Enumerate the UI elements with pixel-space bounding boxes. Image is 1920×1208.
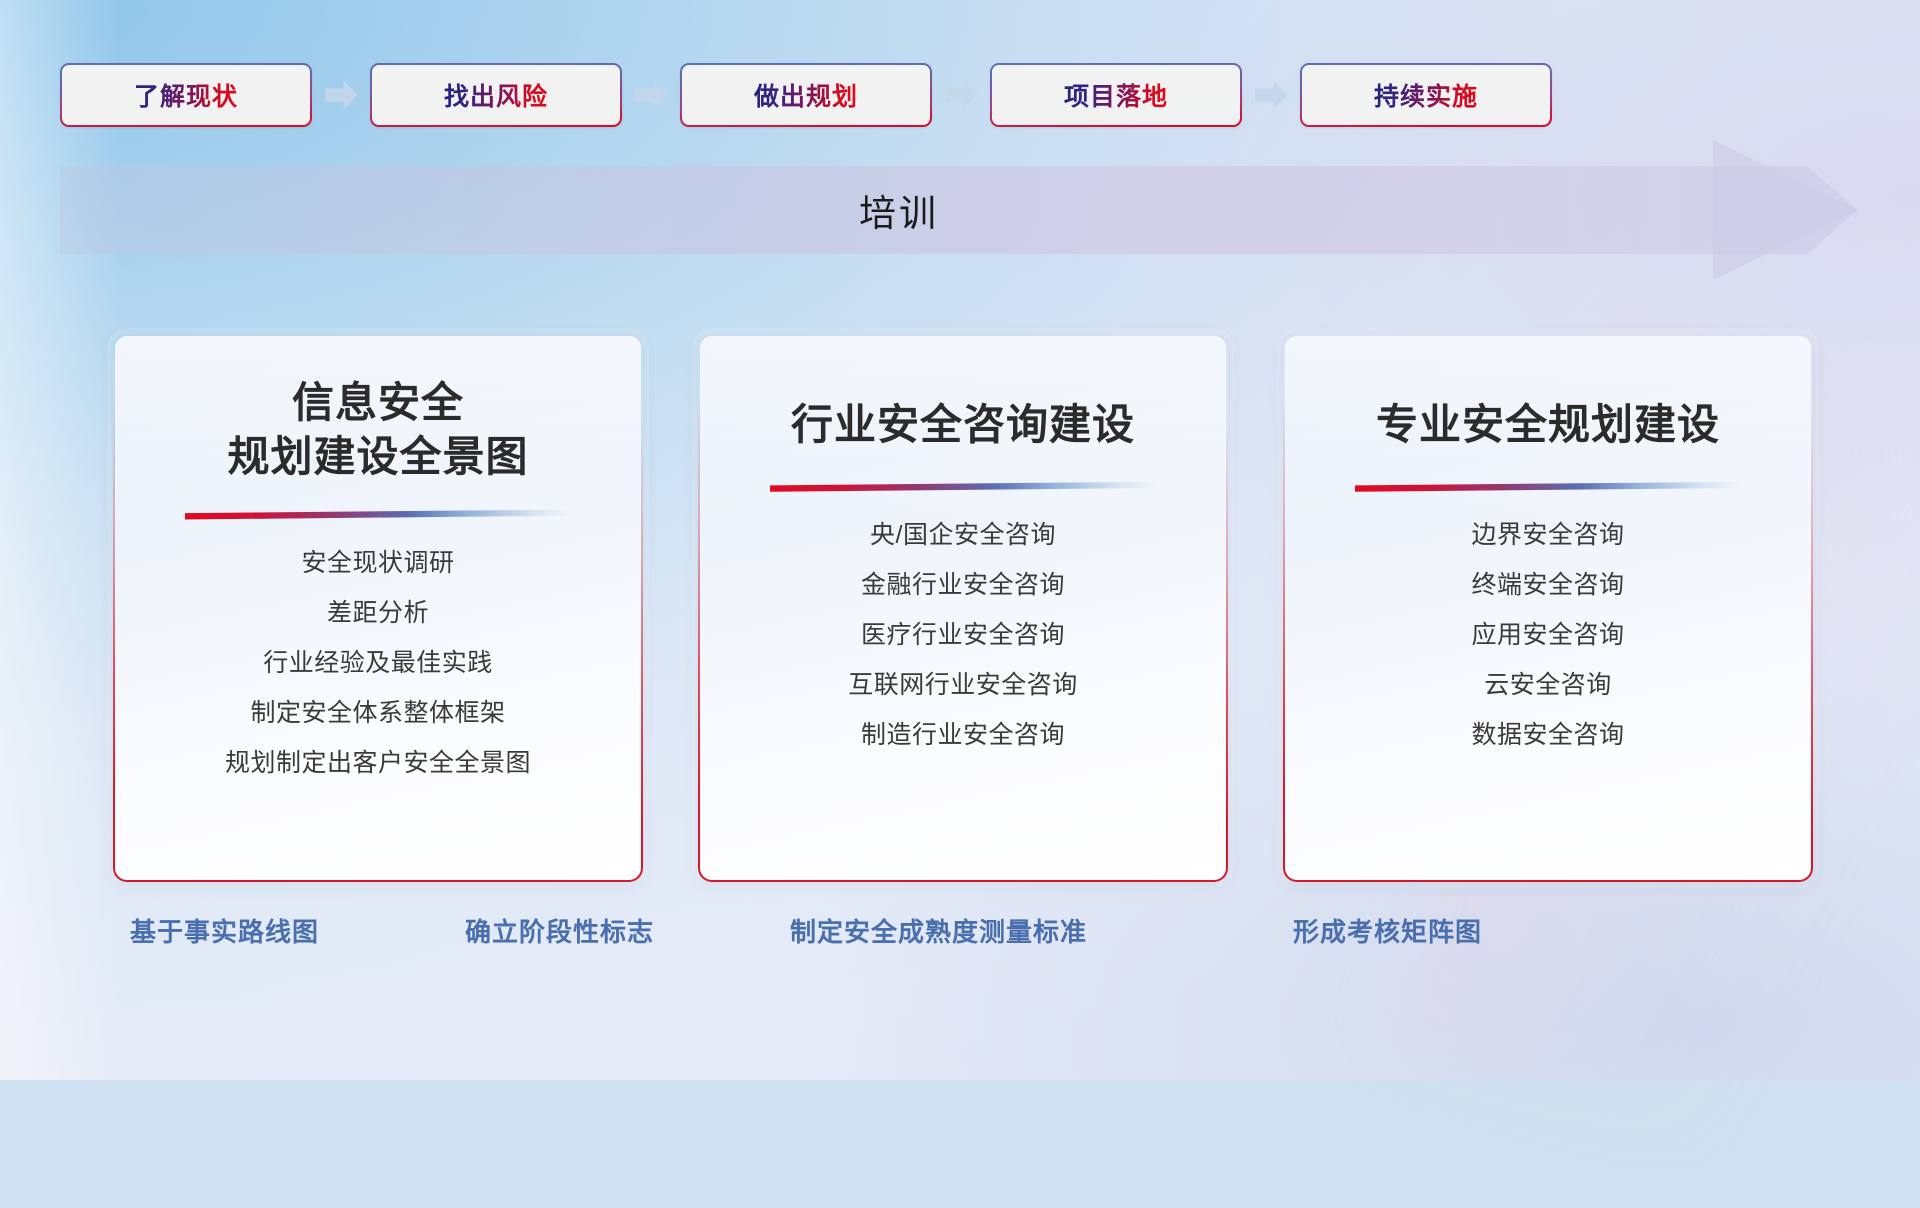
- caption-1: 基于事实路线图: [130, 912, 319, 949]
- arrow-right-icon-4: [1255, 80, 1288, 110]
- caption-2: 确立阶段性标志: [465, 912, 654, 949]
- list-item: 终端安全咨询: [1471, 564, 1624, 606]
- list-item: 医疗行业安全咨询: [861, 614, 1065, 656]
- card-title-1: 信息安全 规划建设全景图: [227, 376, 528, 484]
- step-box-3[interactable]: 做出规划: [680, 63, 932, 127]
- card-divider-3: [1355, 482, 1741, 492]
- step-label-4: 项目落地: [1064, 77, 1168, 113]
- list-item: 差距分析: [327, 592, 429, 634]
- card-divider-1: [185, 510, 571, 520]
- list-item: 数据安全咨询: [1471, 714, 1624, 756]
- step-box-4[interactable]: 项目落地: [990, 63, 1242, 127]
- list-item: 互联网行业安全咨询: [848, 664, 1078, 706]
- list-item: 安全现状调研: [301, 542, 454, 584]
- list-item: 规划制定出客户安全全景图: [225, 742, 531, 784]
- caption-row: 基于事实路线图 确立阶段性标志 制定安全成熟度测量标准 形成考核矩阵图: [0, 912, 1920, 962]
- arrow-right-icon-2: [635, 80, 668, 110]
- banner-title: 培训: [60, 166, 1858, 254]
- card-list-1: 安全现状调研 差距分析 行业经验及最佳实践 制定安全体系整体框架 规划制定出客户…: [225, 542, 531, 784]
- list-item: 制定安全体系整体框架: [250, 692, 505, 734]
- card-information-security-blueprint[interactable]: 信息安全 规划建设全景图 安全现状调研 差距分析 行业经验及最佳实践 制定安全体…: [113, 334, 643, 882]
- training-banner: 培训: [60, 166, 1858, 254]
- step-box-1[interactable]: 了解现状: [60, 63, 312, 127]
- card-list-3: 边界安全咨询 终端安全咨询 应用安全咨询 云安全咨询 数据安全咨询: [1471, 514, 1624, 756]
- caption-3: 制定安全成熟度测量标准: [790, 912, 1087, 949]
- list-item: 行业经验及最佳实践: [263, 642, 493, 684]
- step-label-1: 了解现状: [134, 77, 238, 113]
- list-item: 制造行业安全咨询: [861, 714, 1065, 756]
- card-list-2: 央/国企安全咨询 金融行业安全咨询 医疗行业安全咨询 互联网行业安全咨询 制造行…: [848, 514, 1078, 756]
- card-group: 信息安全 规划建设全景图 安全现状调研 差距分析 行业经验及最佳实践 制定安全体…: [113, 334, 1813, 882]
- step-box-2[interactable]: 找出风险: [370, 63, 622, 127]
- card-industry-security-consulting[interactable]: 行业安全咨询建设 央/国企安全咨询 金融行业安全咨询 医疗行业安全咨询 互联网行…: [698, 334, 1228, 882]
- card-title-2: 行业安全咨询建设: [791, 398, 1135, 452]
- step-label-2: 找出风险: [444, 77, 548, 113]
- caption-4: 形成考核矩阵图: [1293, 912, 1482, 949]
- arrow-right-icon-1: [325, 80, 358, 110]
- list-item: 央/国企安全咨询: [870, 514, 1056, 556]
- card-title-3: 专业安全规划建设: [1376, 398, 1720, 452]
- card-professional-security-planning[interactable]: 专业安全规划建设 边界安全咨询 终端安全咨询 应用安全咨询 云安全咨询 数据安全…: [1283, 334, 1813, 882]
- process-step-flow: 了解现状 找出风险 做出规划 项目落地 持续实施: [60, 62, 1860, 128]
- card-divider-2: [770, 482, 1156, 492]
- list-item: 边界安全咨询: [1471, 514, 1624, 556]
- list-item: 金融行业安全咨询: [861, 564, 1065, 606]
- list-item: 应用安全咨询: [1471, 614, 1624, 656]
- step-box-5[interactable]: 持续实施: [1300, 63, 1552, 127]
- list-item: 云安全咨询: [1484, 664, 1612, 706]
- step-label-5: 持续实施: [1374, 77, 1478, 113]
- arrow-right-icon-3: [945, 80, 978, 110]
- step-label-3: 做出规划: [754, 77, 858, 113]
